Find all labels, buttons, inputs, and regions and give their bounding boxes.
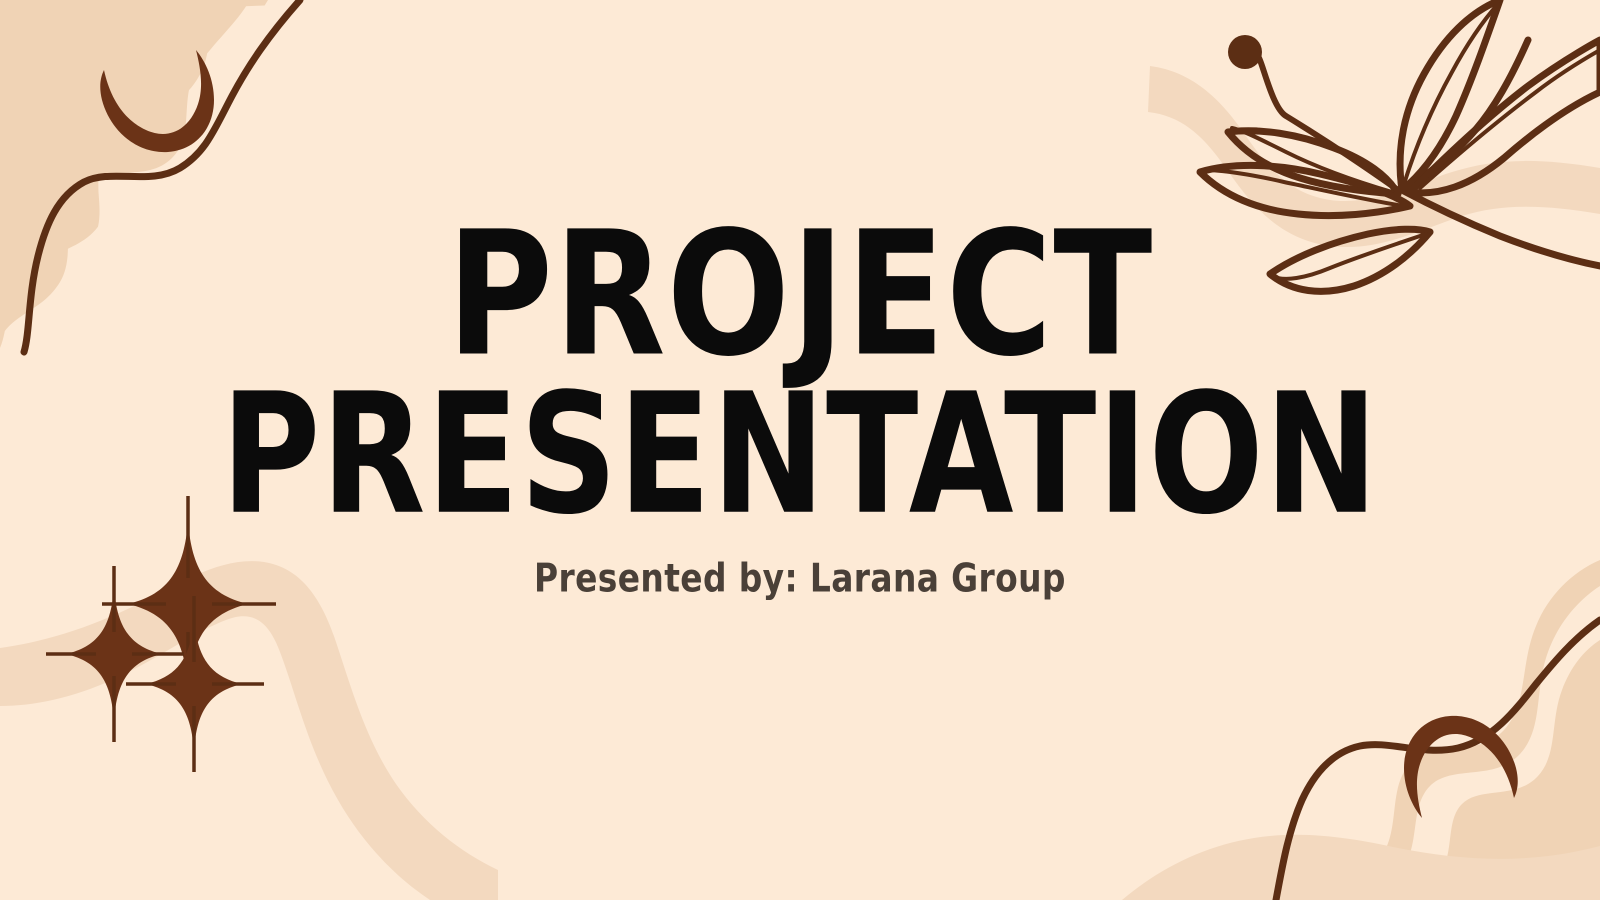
title-slide: PROJECT PRESENTATION Presented by: Laran… (0, 0, 1600, 900)
page-title-line-1: PROJECT (16, 212, 1584, 377)
berry-dot (1228, 35, 1262, 69)
presenter-subtitle: Presented by: Larana Group (534, 557, 1066, 602)
page-title-line-2: PRESENTATION (32, 376, 1568, 536)
title-block: PROJECT PRESENTATION (0, 212, 1600, 511)
